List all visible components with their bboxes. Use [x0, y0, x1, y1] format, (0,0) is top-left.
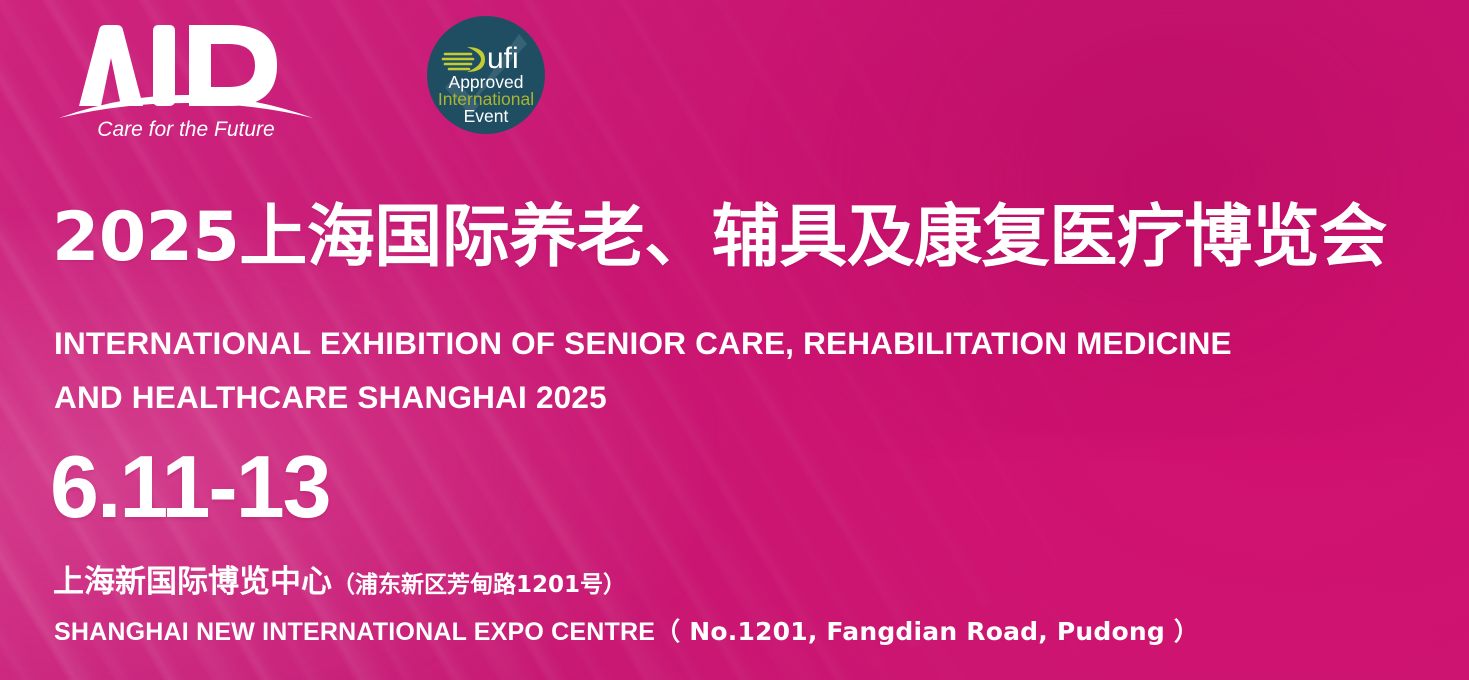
event-date: 6.11-13 [50, 443, 330, 531]
event-title-chinese: 2025上海国际养老、辅具及康复医疗博览会 [52, 204, 1387, 272]
venue-english-address: （ No.1201, Fangdian Road, Pudong ） [655, 617, 1199, 646]
ufi-wordmark: ufi [487, 42, 519, 75]
event-title-english-line1: INTERNATIONAL EXHIBITION OF SENIOR CARE,… [54, 316, 1424, 370]
event-title-english: INTERNATIONAL EXHIBITION OF SENIOR CARE,… [54, 316, 1424, 424]
aid-logo-tagline: Care for the Future [97, 118, 274, 138]
venue-chinese-address: （浦东新区芳甸路1201号） [332, 572, 626, 598]
venue-chinese-name: 上海新国际博览中心 [53, 564, 332, 600]
logo-row: Care for the Future ufi [55, 14, 545, 138]
aid-logo: Care for the Future [55, 14, 317, 138]
event-banner: Care for the Future ufi [0, 0, 1469, 680]
ufi-badge-line-event: Event [464, 106, 509, 126]
venue-english-name: SHANGHAI NEW INTERNATIONAL EXPO CENTRE [54, 618, 655, 646]
venue-english: SHANGHAI NEW INTERNATIONAL EXPO CENTRE（ … [54, 619, 1199, 645]
event-title-english-line2: AND HEALTHCARE SHANGHAI 2025 [54, 370, 1424, 424]
ufi-approved-badge: ufi Approved International Event [427, 16, 545, 134]
venue-chinese: 上海新国际博览中心（浦东新区芳甸路1201号） [53, 567, 626, 598]
